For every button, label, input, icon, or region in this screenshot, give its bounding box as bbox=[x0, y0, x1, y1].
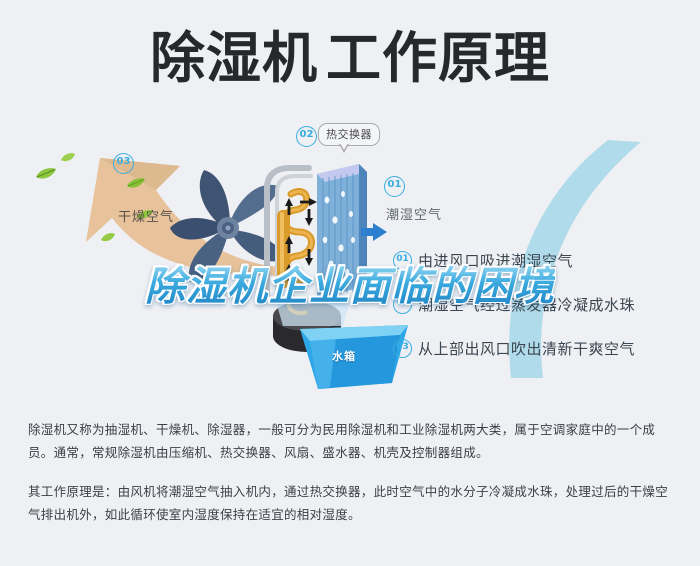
list-item: 01 由进风口吸进潮湿空气 bbox=[393, 248, 693, 272]
paragraph-2: 其工作原理是：由风机将潮湿空气抽入机内，通过热交换器，此时空气中的水分子冷凝成水… bbox=[28, 480, 676, 526]
humid-air-label: 潮湿空气 bbox=[386, 204, 442, 223]
step-number: 02 bbox=[393, 295, 412, 314]
callout-tail-icon bbox=[339, 144, 349, 153]
page-title: 除湿机工作原理 bbox=[0, 28, 700, 88]
leaf-icon bbox=[126, 176, 146, 195]
page-title-part1: 除湿机 bbox=[150, 26, 318, 90]
page-title-part2: 工作原理 bbox=[326, 26, 550, 90]
leaf-icon bbox=[100, 228, 116, 247]
steps-list: 01 由进风口吸进潮湿空气 02 潮湿空气经过蒸发器冷凝成水珠 03 从上部出风… bbox=[393, 248, 693, 380]
badge-03-dry-air: 03 bbox=[113, 153, 134, 174]
infographic-page: 除湿机工作原理 bbox=[0, 0, 700, 566]
step-text: 由进风口吸进潮湿空气 bbox=[418, 250, 573, 271]
dry-air-label: 干燥空气 bbox=[118, 206, 174, 225]
step-number: 03 bbox=[393, 339, 412, 358]
badge-01-humid-air: 01 bbox=[384, 176, 405, 197]
paragraph-1: 除湿机又称为抽湿机、干燥机、除湿器，一般可分为民用除湿机和工业除湿机两大类，属于… bbox=[28, 418, 676, 464]
body-copy: 除湿机又称为抽湿机、干燥机、除湿器，一般可分为民用除湿机和工业除湿机两大类，属于… bbox=[28, 418, 676, 526]
step-text: 从上部出风口吹出清新干爽空气 bbox=[418, 338, 635, 359]
leaf-icon bbox=[60, 148, 76, 167]
dehumidifier-diagram: 水箱 03 干燥空气 02 热交换器 01 潮湿空气 01 由进风口吸进潮湿空气… bbox=[0, 108, 700, 393]
badge-02-heat-exchanger: 02 bbox=[296, 126, 317, 147]
step-number: 01 bbox=[393, 251, 412, 270]
leaf-icon bbox=[34, 166, 58, 186]
step-text: 潮湿空气经过蒸发器冷凝成水珠 bbox=[418, 294, 635, 315]
heat-exchanger-callout: 热交换器 bbox=[318, 123, 380, 146]
list-item: 03 从上部出风口吹出清新干爽空气 bbox=[393, 336, 693, 360]
list-item: 02 潮湿空气经过蒸发器冷凝成水珠 bbox=[393, 292, 693, 316]
water-tank-label: 水箱 bbox=[332, 348, 356, 364]
